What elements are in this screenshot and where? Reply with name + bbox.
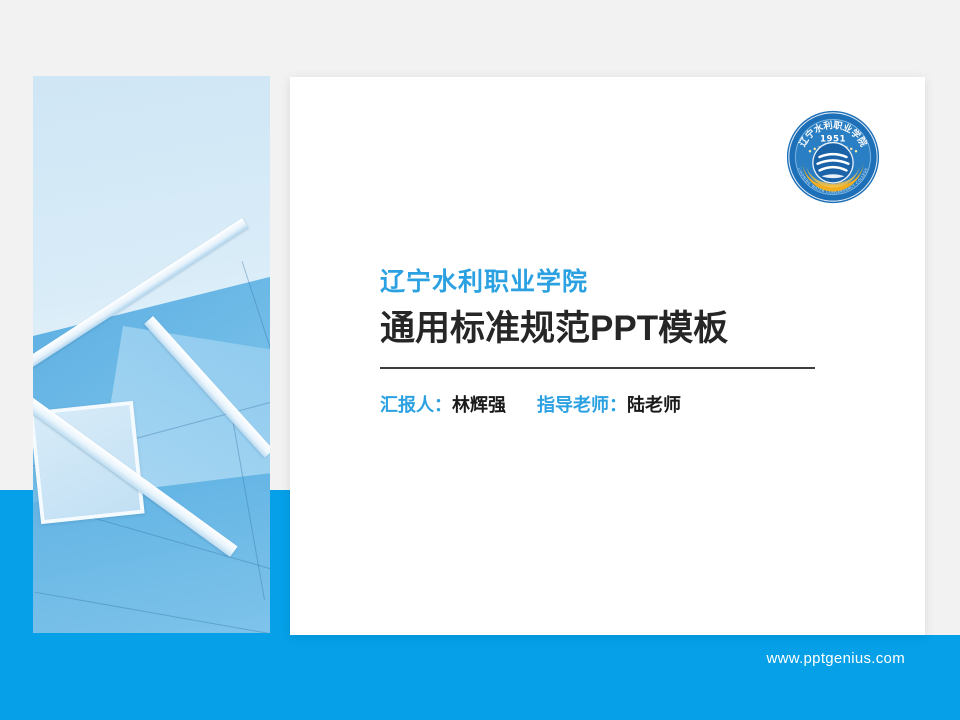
- presenter-name: 林辉强: [452, 395, 506, 415]
- college-logo-icon: 辽宁水利职业学院 LIAONING WATER CONSERVANCY COLL…: [785, 109, 881, 205]
- footer-blue-band: [0, 635, 960, 720]
- footer-url[interactable]: www.pptgenius.com: [0, 650, 905, 667]
- presenter-label: 汇报人：: [380, 395, 452, 415]
- presenter-row: 汇报人：林辉强 指导老师：陆老师: [380, 391, 820, 417]
- presentation-slide: 辽宁水利职业学院 LIAONING WATER CONSERVANCY COLL…: [0, 0, 960, 720]
- title-block: 辽宁水利职业学院 通用标准规范PPT模板 汇报人：林辉强 指导老师：陆老师: [380, 267, 820, 417]
- title-divider: [380, 367, 815, 369]
- advisor-label: 指导老师：: [537, 395, 627, 415]
- page-title: 通用标准规范PPT模板: [380, 307, 820, 351]
- cover-photo-panel: [33, 76, 270, 633]
- advisor-name: 陆老师: [627, 395, 681, 415]
- school-name: 辽宁水利职业学院: [380, 267, 820, 297]
- content-card: 辽宁水利职业学院 LIAONING WATER CONSERVANCY COLL…: [290, 77, 925, 635]
